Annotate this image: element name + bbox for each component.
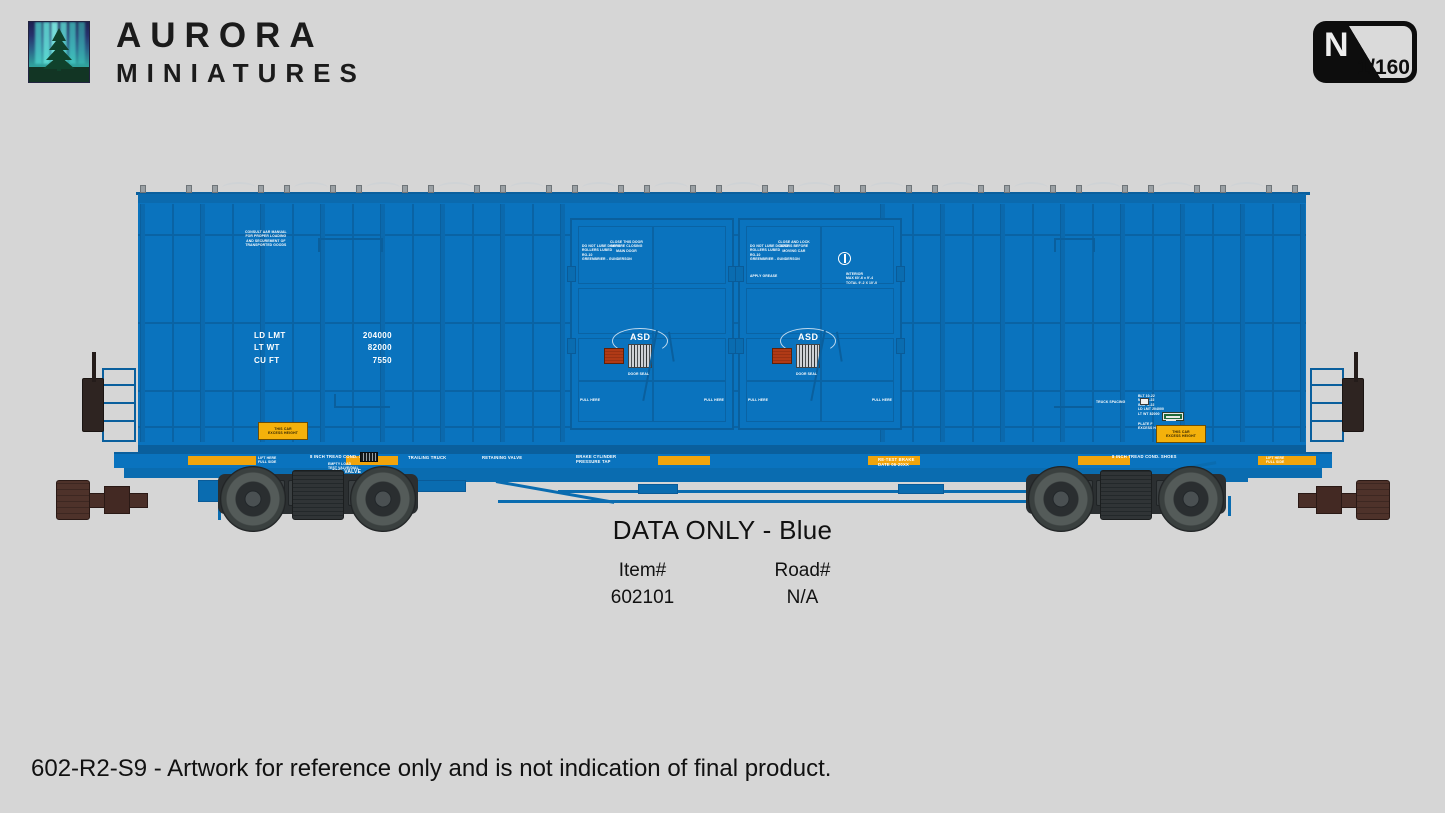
asd-label-left: ASD (630, 332, 651, 342)
end-ladder-right (1310, 368, 1344, 442)
pull-here-right-2: PULL HERE (872, 398, 892, 402)
page-title: DATA ONLY - Blue (0, 515, 1445, 546)
sill-stencil-c: BRAKE CYLINDERPRESSURE TAP (576, 454, 616, 465)
disclaimer-text: 602-R2-S9 - Artwork for reference only a… (31, 755, 831, 783)
door-placard-right: CLOSE AND LOCKDOORS BEFOREMOVING CAR (778, 240, 810, 253)
sill-stencil-d: RE-TEST BRAKEDATE 06-20XX (878, 457, 915, 468)
asd-label-right: ASD (798, 332, 819, 342)
excess-height-placard-left: THIS CAREXCESS HEIGHT (258, 422, 308, 440)
coupler-left (56, 480, 130, 520)
aurora-borealis-logo-icon (28, 21, 90, 83)
lift-here-right: TRUCK SPACING (1096, 400, 1125, 404)
door-seal-left: DOOR SEAL (628, 372, 649, 376)
scale-ratio: 1/160 (1357, 56, 1410, 80)
door-seal-right: DOOR SEAL (796, 372, 817, 376)
capacity-labels: LD LMTLT WTCU FT (254, 330, 286, 367)
sill-stencil-a: TRAILING TRUCK (408, 455, 446, 460)
end-brake-gear-left (82, 378, 104, 432)
boxcar-illustration: CONSULT AAR MANUALFOR PROPER LOADINGAND … (78, 180, 1368, 520)
lift-stencil-left: LIFT HEREFULL SIDE (258, 456, 276, 465)
caption-block: DATA ONLY - Blue Item# 602101 Road# N/A (0, 515, 1445, 609)
pull-here-right: PULL HERE (748, 398, 768, 402)
brake-rod-left (92, 352, 96, 382)
coupler-right (1316, 480, 1390, 520)
stencil-right-arrow: APPLY GREASE (750, 274, 777, 278)
door-lock-icon (838, 252, 851, 265)
item-number-value: 602101 (593, 587, 693, 609)
boxcar-body: CONSULT AAR MANUALFOR PROPER LOADINGAND … (138, 194, 1306, 452)
road-number-column: Road# N/A (753, 560, 853, 609)
plug-door-right: DO NOT LUBE DOORSROLLERS LUBEDRO-10GREEN… (738, 218, 902, 430)
pull-here-left: PULL HERE (580, 398, 600, 402)
brand-header: AURORA MINIATURES (28, 18, 366, 86)
road-number-label: Road# (753, 560, 853, 582)
plug-door-left: DO NOT LUBE DOORSROLLERS LUBEDRO-10GREEN… (570, 218, 734, 430)
brake-shoe-stencil-right: 8 INCH TREAD COND. SHOES (1112, 454, 1177, 459)
reflective-stripe-1 (188, 456, 256, 465)
door-placard-left: CLOSE THIS DOORBEFORE CLOSINGMAIN DOOR (610, 240, 643, 253)
brake-rod-right (1354, 352, 1358, 382)
underframe-cylinder (898, 484, 944, 494)
consist-placard (1162, 412, 1184, 421)
sill-stencil-b: RETAINING VALVE (482, 455, 522, 460)
road-number-value: N/A (753, 587, 853, 609)
stencil-right-extra: INTERIORMAX 60'-6 x 9'-4TOTAL 9'-2 X 10'… (846, 272, 877, 285)
item-number-column: Item# 602101 (593, 560, 693, 609)
brand-name-line1: AURORA (116, 18, 366, 53)
excess-height-placard-right: THIS CAREXCESS HEIGHT (1156, 425, 1206, 443)
underframe-valve-box (638, 484, 678, 494)
item-number-label: Item# (593, 560, 693, 582)
pull-here-left-2: PULL HERE (704, 398, 724, 402)
roof-loading-stencil: CONSULT AAR MANUALFOR PROPER LOADINGAND … (245, 230, 287, 248)
capacity-values: 204000820007550 (334, 330, 392, 367)
reflective-stripe-3 (658, 456, 710, 465)
airhose-detail-left (360, 452, 378, 462)
end-drop-rod-right (1228, 496, 1231, 516)
lift-stencil-right: LIFT HEREFULL SIDE (1266, 456, 1284, 465)
brand-name-line2: MINIATURES (116, 60, 366, 86)
scale-letter: N (1324, 26, 1349, 65)
reporting-plate-icon (1140, 398, 1149, 405)
scale-badge: N 1/160 (1313, 21, 1417, 83)
end-ladder-left (102, 368, 136, 442)
end-brake-gear-right (1342, 378, 1364, 432)
boxcar-roof (136, 180, 1310, 195)
